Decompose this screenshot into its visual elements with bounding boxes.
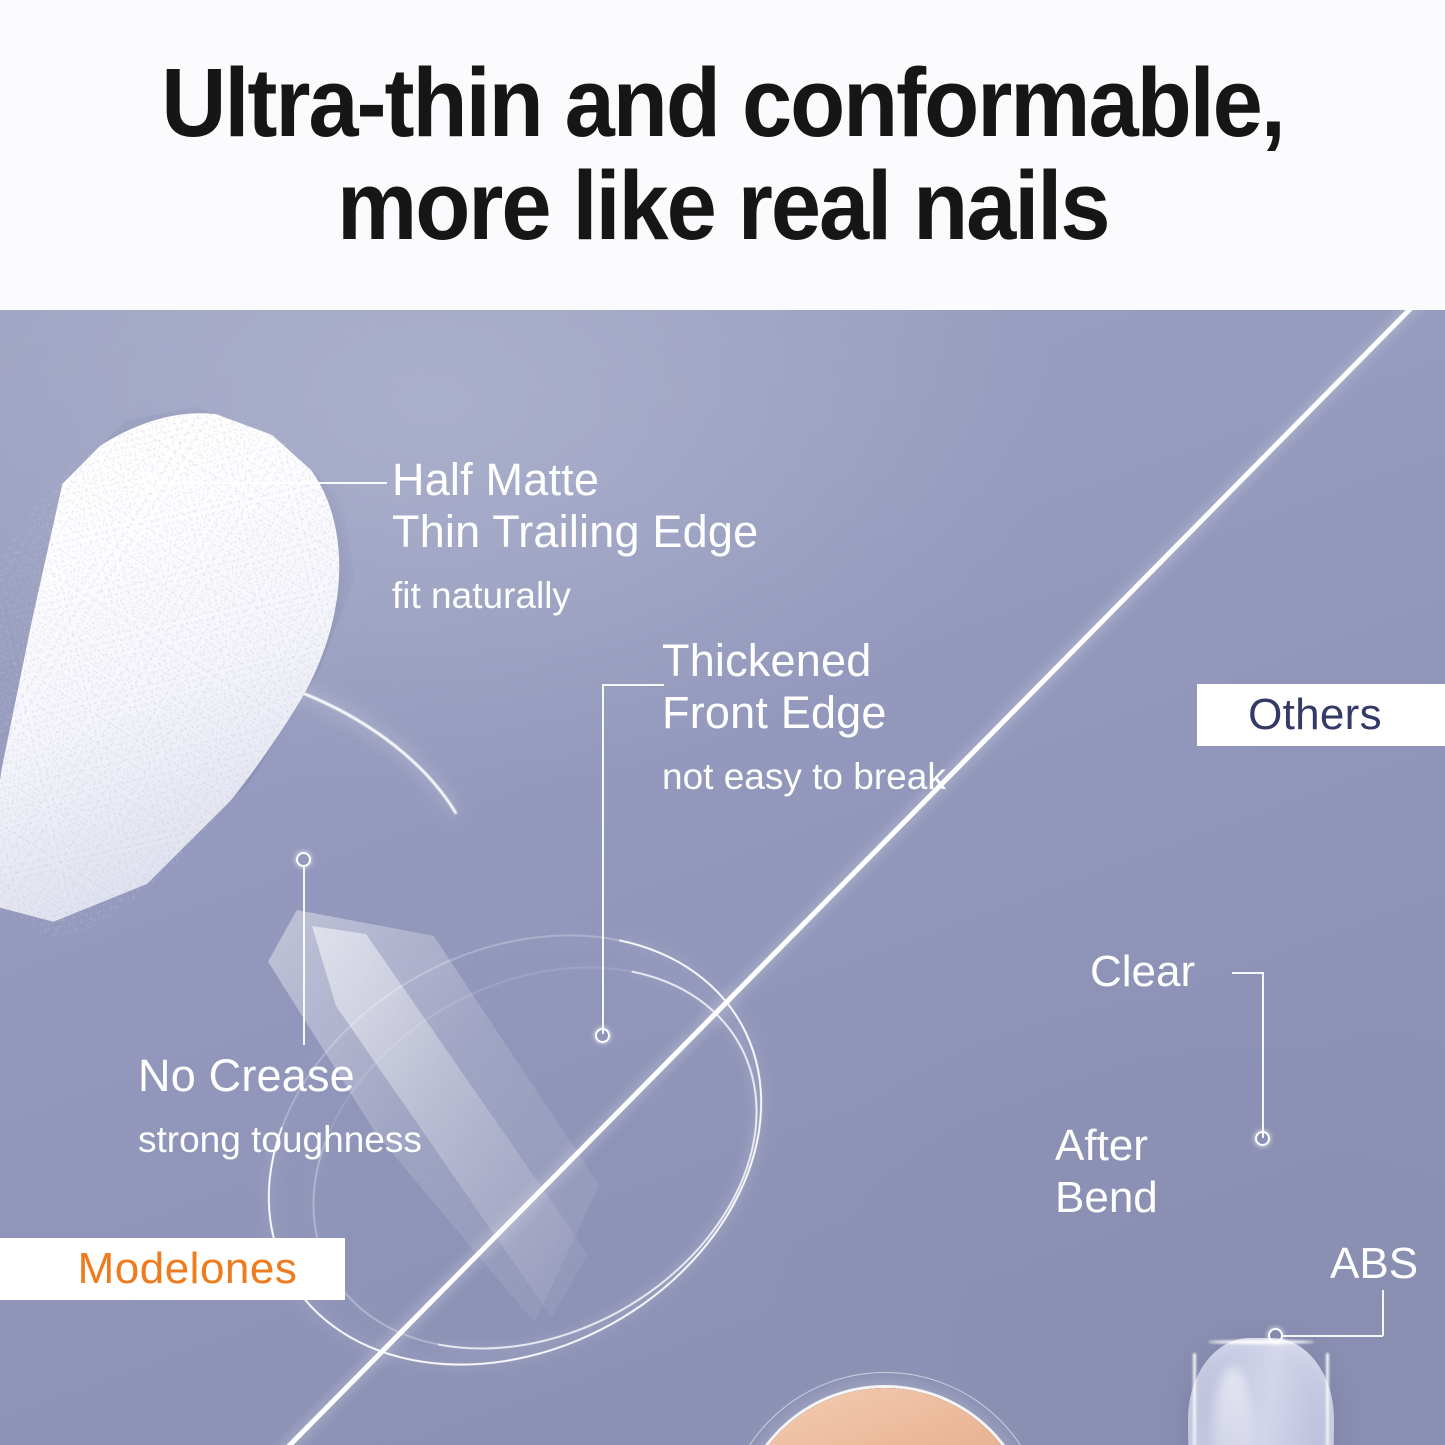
callout-no-crease-subtitle: strong toughness [138,1118,568,1162]
connector-line-abs-h [1282,1335,1383,1337]
badge-others-label: Others [1248,690,1394,740]
callout-half-matte: Half Matte Thin Trailing Edge fit natura… [392,454,822,619]
callout-no-crease-title: No Crease [138,1050,568,1102]
connector-line-clear-h [1232,972,1264,974]
connector-dot-abs [1268,1328,1283,1343]
callout-no-crease: No Crease strong toughness [138,1050,568,1163]
connector-dot-no-crease [296,852,311,867]
brand-badge-modelones: Modelones [0,1238,345,1300]
abs-nail-right-rim [1326,1353,1329,1445]
product-feature-graphic: Ultra-thin and conformable, more like re… [0,0,1445,1445]
connector-line-half-matte [159,482,387,484]
connector-line-front-edge-h [602,684,664,686]
connector-line-front-edge-v [602,684,604,1034]
callout-front-edge-title: Thickened Front Edge [662,635,1062,739]
label-abs: ABS [1330,1238,1418,1290]
connector-dot-clear [1255,1131,1270,1146]
label-after-bend: After Bend [1055,1120,1158,1224]
connector-line-clear-v [1262,972,1264,1138]
abs-nail-sheen [1214,1367,1252,1445]
connector-line-no-crease [303,867,305,1045]
label-clear: Clear [1090,946,1195,998]
connector-line-abs-v [1382,1290,1384,1336]
connector-dot-front-edge [595,1028,610,1043]
headline-line-1: Ultra-thin and conformable, [161,52,1284,155]
callout-half-matte-subtitle: fit naturally [392,574,822,618]
callout-half-matte-title: Half Matte Thin Trailing Edge [392,454,822,558]
headline-line-2: more like real nails [337,155,1108,258]
callout-front-edge: Thickened Front Edge not easy to break [662,635,1062,800]
headline-band: Ultra-thin and conformable, more like re… [0,0,1445,310]
others-abs-nail [1188,1338,1334,1445]
brand-badge-label: Modelones [48,1244,298,1294]
abs-nail-left-rim [1193,1353,1196,1445]
badge-others: Others [1197,684,1445,746]
connector-dot-half-matte [144,475,159,490]
callout-front-edge-subtitle: not easy to break [662,755,1062,799]
abs-nail-top-highlight [1208,1340,1313,1344]
